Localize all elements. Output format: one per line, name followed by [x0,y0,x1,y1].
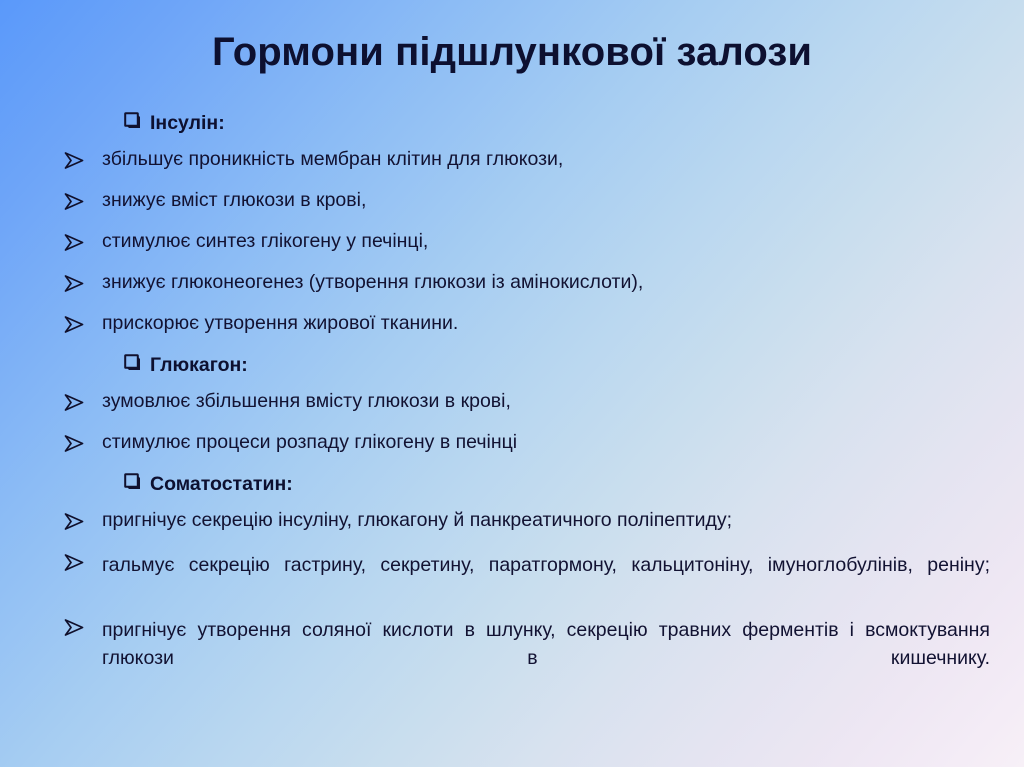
list-item-text: збільшує проникність мембран клітин для … [102,149,990,170]
arrow-bullet-icon [64,551,102,571]
list-item-text: пригнічує секрецію інсуліну, глюкагону й… [102,510,990,531]
square-bullet-icon [124,112,150,129]
arrow-bullet-icon [64,313,102,333]
list-item: гальмує секрецію гастрину, секретину, па… [64,551,990,607]
list-item: знижує глюконеогенез (утворення глюкози … [64,272,990,313]
list-item: збільшує проникність мембран клітин для … [64,149,990,190]
list-item-text: стимулює синтез глікогену у печінці, [102,231,990,252]
list-item-text: знижує вміст глюкози в крові, [102,190,990,211]
section-heading-glucagon: Глюкагон: [124,354,990,391]
list-item-text: стимулює процеси розпаду глікогену в печ… [102,432,990,453]
arrow-bullet-icon [64,616,102,636]
presentation-slide: Гормони підшлункової залози Інсулін: збі… [0,0,1024,767]
list-item: прискорює утворення жирової тканини. [64,313,990,354]
list-item-text: прискорює утворення жирової тканини. [102,313,990,334]
page-title: Гормони підшлункової залози [0,30,1024,75]
section-label: Глюкагон: [150,356,248,376]
square-bullet-icon [124,354,150,371]
list-item: пригнічує утворення соляної кислоти в шл… [64,616,990,700]
list-item: пригнічує секрецію інсуліну, глюкагону й… [64,510,990,551]
list-item: стимулює процеси розпаду глікогену в печ… [64,432,990,473]
list-item: знижує вміст глюкози в крові, [64,190,990,231]
section-heading-insulin: Інсулін: [124,112,990,149]
section-heading-somatostatin: Соматостатин: [124,473,990,510]
arrow-bullet-icon [64,231,102,251]
list-item: зумовлює збільшення вмісту глюкози в кро… [64,391,990,432]
arrow-bullet-icon [64,149,102,169]
section-label: Соматостатин: [150,475,293,495]
section-label: Інсулін: [150,114,225,134]
list-item-text: зумовлює збільшення вмісту глюкози в кро… [102,391,990,412]
arrow-bullet-icon [64,391,102,411]
arrow-bullet-icon [64,272,102,292]
list-item-text: гальмує секрецію гастрину, секретину, па… [102,551,990,607]
arrow-bullet-icon [64,432,102,452]
square-bullet-icon [124,473,150,490]
list-item-text: знижує глюконеогенез (утворення глюкози … [102,272,990,293]
list-item: стимулює синтез глікогену у печінці, [64,231,990,272]
list-item-text: пригнічує утворення соляної кислоти в шл… [102,616,990,700]
slide-body: Інсулін: збільшує проникність мембран кл… [0,112,1024,709]
arrow-bullet-icon [64,510,102,530]
arrow-bullet-icon [64,190,102,210]
